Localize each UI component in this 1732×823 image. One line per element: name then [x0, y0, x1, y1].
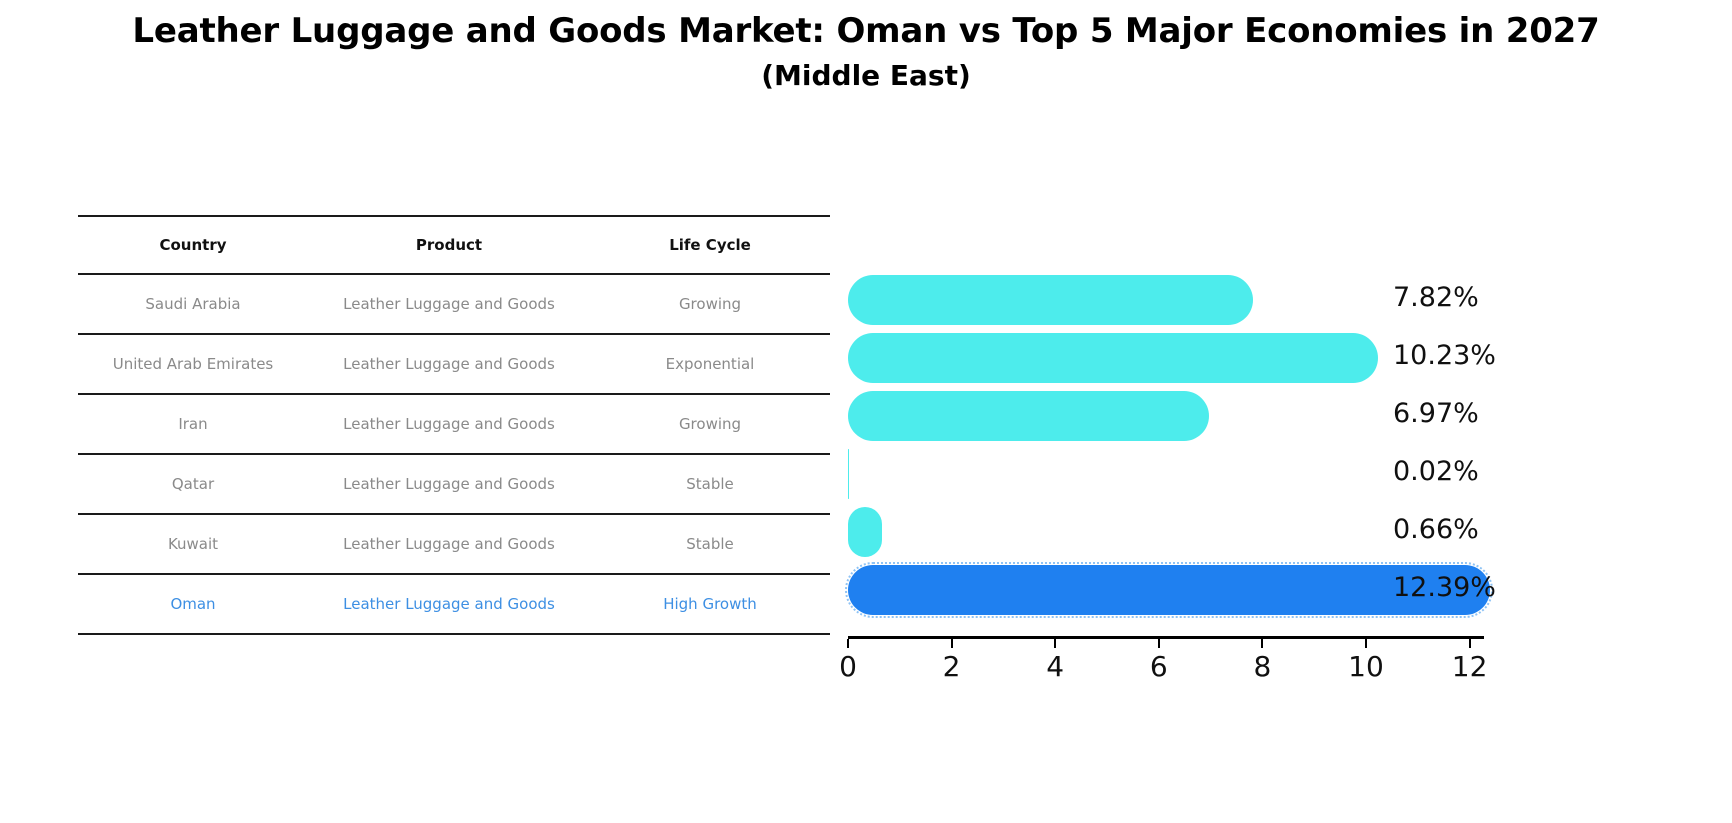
cell-life-cycle: Exponential — [590, 335, 830, 393]
column-header-country: Country — [78, 217, 308, 273]
bar-value-label: 12.39% — [1393, 559, 1496, 617]
table-row[interactable]: OmanLeather Luggage and GoodsHigh Growth — [78, 575, 830, 633]
cell-product: Leather Luggage and Goods — [308, 395, 590, 453]
x-axis-tick-label: 8 — [1253, 650, 1271, 683]
table-row[interactable]: QatarLeather Luggage and GoodsStable — [78, 455, 830, 513]
cell-product: Leather Luggage and Goods — [308, 275, 590, 333]
bar-row: 7.82% — [848, 269, 1508, 327]
cell-country: Saudi Arabia — [78, 275, 308, 333]
bar-kuwait[interactable] — [848, 507, 882, 557]
bar-united-arab-emirates[interactable] — [848, 333, 1378, 383]
cell-life-cycle: High Growth — [590, 575, 830, 633]
bar-iran[interactable] — [848, 391, 1209, 441]
x-axis-tick-mark — [1158, 639, 1160, 648]
cell-product: Leather Luggage and Goods — [308, 335, 590, 393]
cell-life-cycle: Stable — [590, 515, 830, 573]
page-title-line-1: Leather Luggage and Goods Market: Oman v… — [0, 8, 1732, 54]
cell-product: Leather Luggage and Goods — [308, 575, 590, 633]
x-axis-tick-mark — [1054, 639, 1056, 648]
bar-row: 12.39% — [848, 559, 1508, 617]
bar-row: 0.02% — [848, 443, 1508, 501]
table-row[interactable]: Saudi ArabiaLeather Luggage and GoodsGro… — [78, 275, 830, 333]
x-axis-tick-mark — [1469, 639, 1471, 648]
x-axis-line — [848, 636, 1484, 639]
country-matrix-table: CountryProductLife CycleSaudi ArabiaLeat… — [78, 215, 830, 635]
cell-country: Iran — [78, 395, 308, 453]
page-title-subtitle: (Middle East) — [0, 54, 1732, 98]
column-header-product: Product — [308, 217, 590, 273]
table-row[interactable]: United Arab EmiratesLeather Luggage and … — [78, 335, 830, 393]
bar-value-label: 10.23% — [1393, 327, 1496, 385]
x-axis-tick-label: 0 — [839, 650, 857, 683]
x-axis-tick-mark — [847, 639, 849, 648]
table-row[interactable]: IranLeather Luggage and GoodsGrowing — [78, 395, 830, 453]
cell-product: Leather Luggage and Goods — [308, 455, 590, 513]
bar-row: 0.66% — [848, 501, 1508, 559]
comparison-table: CountryProductLife CycleSaudi ArabiaLeat… — [78, 215, 830, 635]
bar-chart: 7.82%10.23%6.97%0.02%0.66%12.39% 0246810… — [848, 215, 1508, 675]
bar-value-label: 7.82% — [1393, 269, 1479, 327]
table-row[interactable]: KuwaitLeather Luggage and GoodsStable — [78, 515, 830, 573]
x-axis-tick-label: 12 — [1452, 650, 1488, 683]
x-axis-tick-label: 2 — [943, 650, 961, 683]
column-header-life-cycle: Life Cycle — [590, 217, 830, 273]
cell-country: Kuwait — [78, 515, 308, 573]
x-axis-tick-mark — [1261, 639, 1263, 648]
bar-saudi-arabia[interactable] — [848, 275, 1253, 325]
table-divider — [78, 633, 830, 635]
bar-value-label: 6.97% — [1393, 385, 1479, 443]
bar-qatar[interactable] — [848, 449, 849, 499]
cell-life-cycle: Growing — [590, 275, 830, 333]
cell-life-cycle: Stable — [590, 455, 830, 513]
x-axis-tick-label: 10 — [1348, 650, 1384, 683]
cell-country: United Arab Emirates — [78, 335, 308, 393]
bar-value-label: 0.66% — [1393, 501, 1479, 559]
table-rule — [78, 633, 830, 635]
table-header-row: CountryProductLife Cycle — [78, 217, 830, 273]
cell-country: Oman — [78, 575, 308, 633]
cell-country: Qatar — [78, 455, 308, 513]
cell-life-cycle: Growing — [590, 395, 830, 453]
x-axis-tick-label: 4 — [1046, 650, 1064, 683]
x-axis-tick-mark — [951, 639, 953, 648]
cell-product: Leather Luggage and Goods — [308, 515, 590, 573]
x-axis-tick-label: 6 — [1150, 650, 1168, 683]
bar-row: 10.23% — [848, 327, 1508, 385]
bar-value-label: 0.02% — [1393, 443, 1479, 501]
x-axis-tick-mark — [1365, 639, 1367, 648]
bar-row: 6.97% — [848, 385, 1508, 443]
x-axis: 024681012 — [848, 636, 1508, 696]
chart-plot-area: 7.82%10.23%6.97%0.02%0.66%12.39% — [848, 215, 1508, 645]
page-title: Leather Luggage and Goods Market: Oman v… — [0, 8, 1732, 98]
